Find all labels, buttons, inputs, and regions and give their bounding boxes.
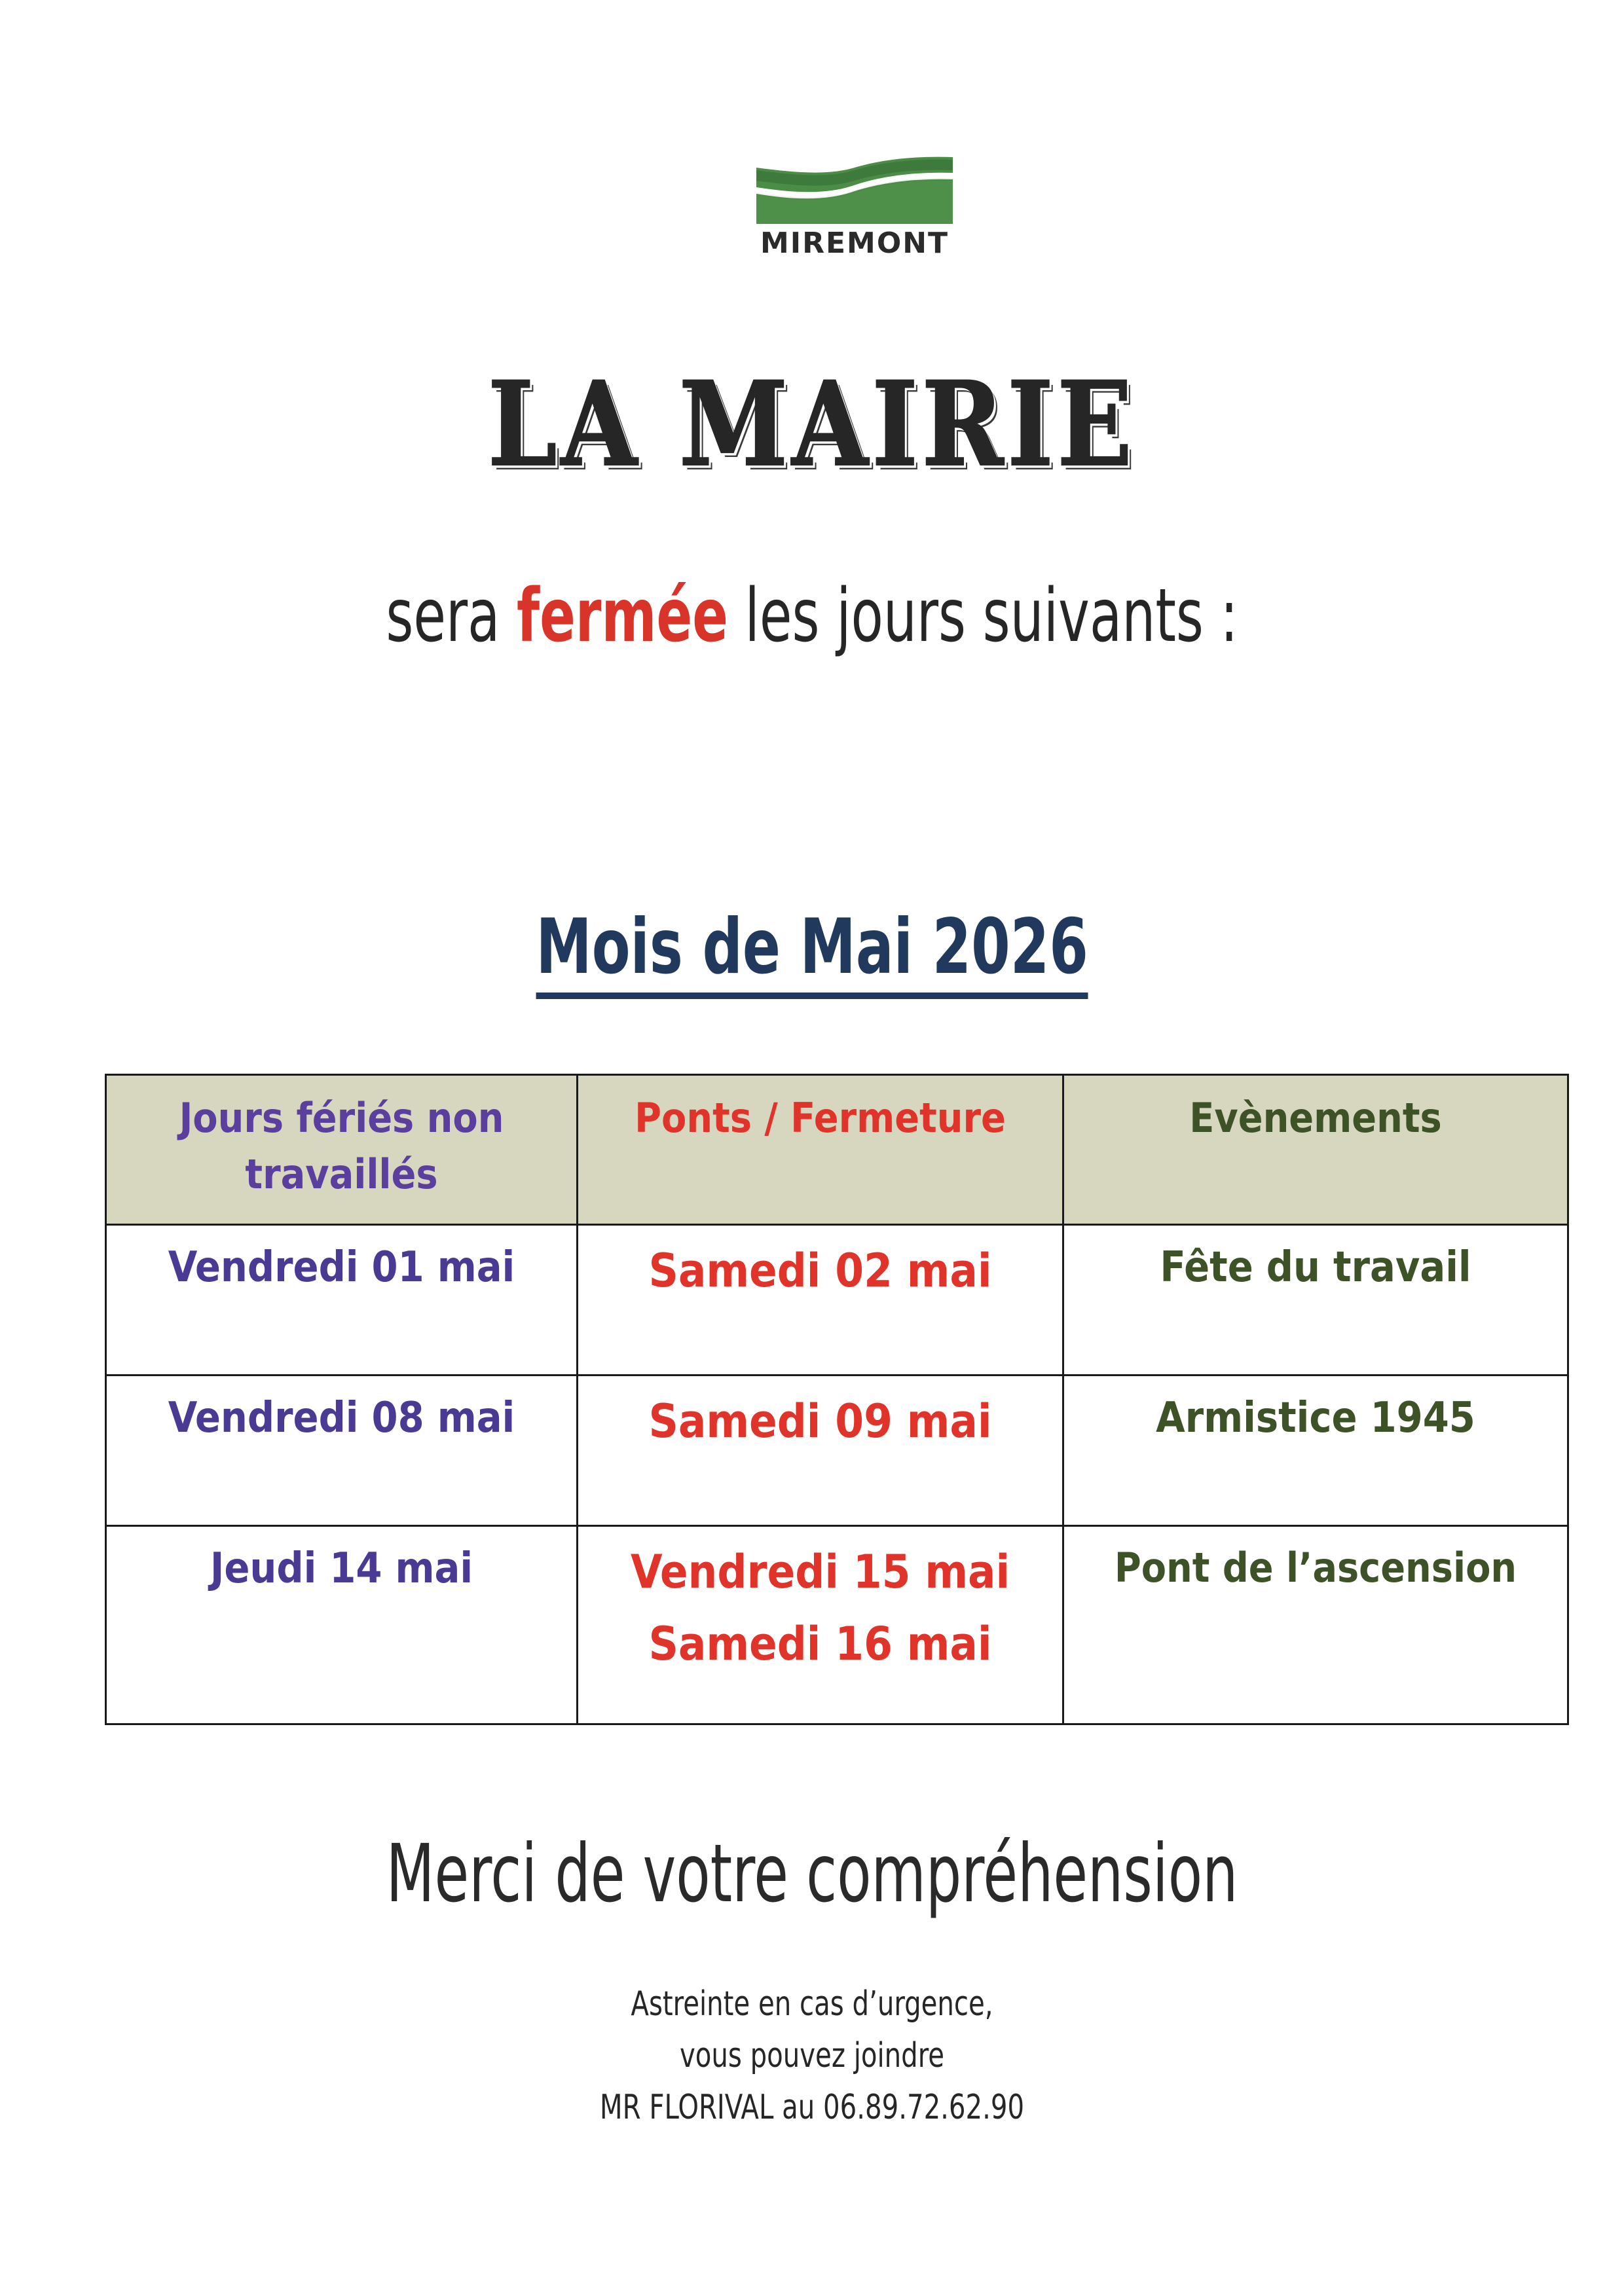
table-row: Vendredi 08 mai Samedi 09 mai Armistice … [106,1376,1568,1526]
cell-pont-text-line1: Vendredi 15 mai [578,1527,1062,1607]
cell-ferie: Vendredi 01 mai [106,1225,578,1376]
cell-evenement: Pont de l’ascension [1063,1526,1568,1724]
closure-schedule-table: Jours fériés non travaillés Ponts / Ferm… [105,1074,1569,1725]
cell-evenement: Fête du travail [1063,1225,1568,1376]
cell-pont: Samedi 09 mai [578,1376,1063,1526]
cell-evenement-text: Armistice 1945 [1064,1376,1567,1450]
cell-ferie: Vendredi 08 mai [106,1376,578,1526]
mairie-logo: MIREMONT [747,151,963,258]
cell-pont-text: Samedi 02 mai [578,1226,1062,1305]
thanks-message: Merci de votre compréhension [179,1830,1445,1918]
column-header-jours-feries-label: Jours fériés non travaillés [107,1076,576,1209]
cell-ferie-text: Vendredi 01 mai [107,1226,576,1300]
emergency-contact-note: Astreinte en cas d’urgence, vous pouvez … [0,1978,1624,2134]
emergency-line-1: Astreinte en cas d’urgence, [114,1978,1511,2030]
closure-statement-highlight: fermée [517,574,728,659]
table-row: Jeudi 14 mai Vendredi 15 mai Samedi 16 m… [106,1526,1568,1724]
column-header-evenements: Evènements [1063,1075,1568,1225]
cell-pont-text-line2: Samedi 16 mai [578,1607,1062,1679]
table-header-row: Jours fériés non travaillés Ponts / Ferm… [106,1075,1568,1225]
closure-statement-before: sera [386,574,517,659]
cell-pont-text: Samedi 09 mai [578,1376,1062,1456]
month-heading-label: Mois de Mai 2026 [536,905,1088,999]
cell-evenement-text: Pont de l’ascension [1064,1527,1567,1599]
closure-statement-after: les jours suivants : [728,574,1238,659]
month-heading: Mois de Mai 2026 [0,905,1624,999]
column-header-evenements-label: Evènements [1064,1076,1567,1153]
cell-pont: Samedi 02 mai [578,1225,1063,1376]
column-header-ponts-label: Ponts / Fermeture [578,1076,1062,1153]
green-hills-landscape-icon [756,151,953,224]
cell-ferie-text: Jeudi 14 mai [107,1527,576,1601]
column-header-jours-feries: Jours fériés non travaillés [106,1075,578,1225]
cell-ferie: Jeudi 14 mai [106,1526,578,1724]
cell-pont: Vendredi 15 mai Samedi 16 mai [578,1526,1063,1724]
closure-statement: sera fermée les jours suivants : [162,573,1462,659]
emergency-line-3: MR FLORIVAL au 06.89.72.62.90 [114,2082,1511,2134]
table-row: Vendredi 01 mai Samedi 02 mai Fête du tr… [106,1225,1568,1376]
cell-evenement-text: Fête du travail [1064,1226,1567,1300]
page-title: LA MAIRIE [0,367,1624,483]
logo-wordmark: MIREMONT [747,229,963,258]
cell-ferie-text: Vendredi 08 mai [107,1376,576,1450]
emergency-line-2: vous pouvez joindre [114,2030,1511,2082]
column-header-ponts: Ponts / Fermeture [578,1075,1063,1225]
cell-evenement: Armistice 1945 [1063,1376,1568,1526]
